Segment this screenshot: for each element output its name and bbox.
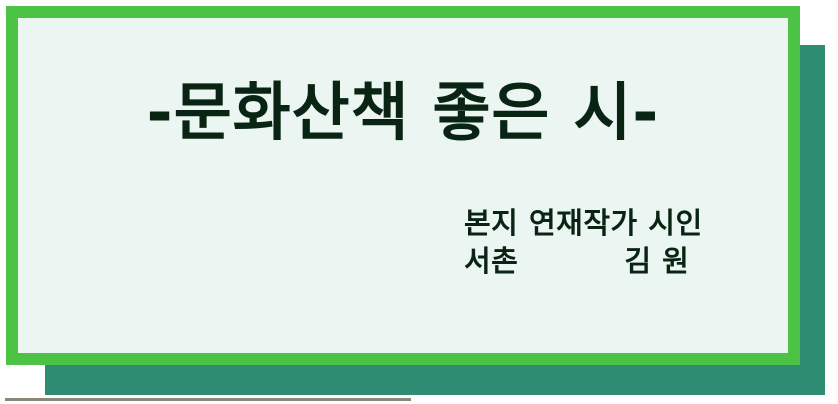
slide-title-text: -문화산책 좋은 시- xyxy=(147,80,660,146)
byline-line-role: 본지 연재작가 시인 xyxy=(464,204,764,242)
card-inner-area: -문화산책 좋은 시- 본지 연재작가 시인 서촌 김 원 xyxy=(18,18,788,353)
bottom-divider-rule xyxy=(5,398,411,401)
byline-line-name: 서촌 김 원 xyxy=(464,242,764,280)
byline-block: 본지 연재작가 시인 서촌 김 원 xyxy=(464,204,764,281)
slide-canvas: -문화산책 좋은 시- 본지 연재작가 시인 서촌 김 원 xyxy=(0,0,838,404)
green-framed-card: -문화산책 좋은 시- 본지 연재작가 시인 서촌 김 원 xyxy=(6,6,800,365)
slide-title: -문화산책 좋은 시- xyxy=(18,80,788,146)
